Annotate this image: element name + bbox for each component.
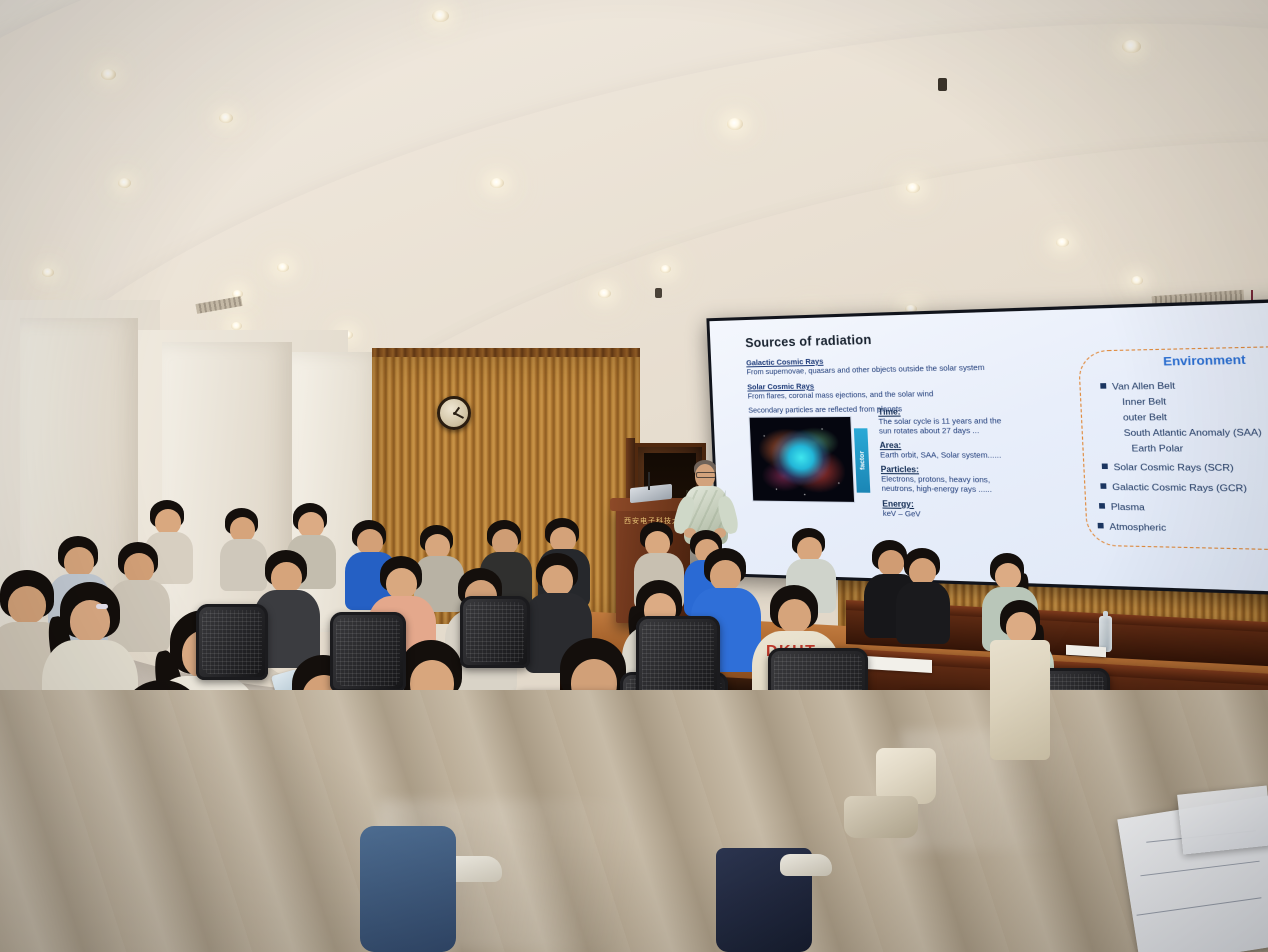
ceiling-downlight: [231, 322, 242, 330]
shoe: [780, 854, 832, 876]
slide-body-scr: From flares, coronal mass ejections, and…: [747, 389, 933, 401]
ceiling-downlight: [906, 183, 920, 193]
ceiling-downlight: [727, 118, 743, 130]
square-bullet-icon: [1099, 503, 1105, 509]
factor-body-area: Earth orbit, SAA, Solar system......: [880, 451, 1002, 461]
podium-mic: [648, 472, 650, 490]
head: [64, 547, 94, 577]
wood-trim: [372, 348, 640, 357]
head: [878, 550, 904, 576]
bag-under-desk: [844, 796, 918, 838]
head: [386, 568, 417, 599]
ceiling-downlight: [1056, 238, 1069, 247]
projection-screen-wrap: Sources of radiation Galactic Cosmic Ray…: [706, 296, 1268, 598]
factor-body-particles-2: neutrons, high-energy rays ......: [881, 485, 992, 496]
factor-body-energy: keV – GeV: [883, 510, 921, 520]
env-item-scr: Solar Cosmic Rays (SCR): [1102, 461, 1234, 473]
factor-head-time: Time:: [878, 407, 901, 417]
torso: [896, 582, 950, 644]
presenter-glasses-icon: [696, 472, 716, 478]
slide-title: Sources of radiation: [745, 333, 872, 351]
chair[interactable]: [196, 604, 272, 686]
env-item-inner-belt: Inner Belt: [1122, 396, 1166, 408]
ceiling-downlight: [490, 178, 504, 188]
lecture-hall-photo: Sources of radiation Galactic Cosmic Ray…: [0, 0, 1268, 952]
jacket-on-chair: [990, 640, 1050, 760]
ceiling-downlight: [118, 178, 131, 188]
ceiling-downlight: [660, 265, 671, 273]
env-item-gcr: Galactic Cosmic Rays (GCR): [1100, 481, 1247, 494]
ceiling-downlight: [1122, 40, 1141, 53]
ceiling-downlight: [277, 263, 289, 272]
hair-clip-icon: [96, 604, 108, 609]
factor-tab: factor: [854, 428, 870, 492]
crab-nebula-image: [749, 416, 856, 503]
head: [542, 565, 573, 596]
head: [778, 599, 811, 633]
wall-clock: [437, 396, 471, 430]
factor-head-area: Area:: [879, 441, 901, 450]
factor-head-particles: Particles:: [881, 465, 920, 475]
head: [710, 560, 741, 591]
head: [995, 563, 1021, 589]
factor-tab-label: factor: [858, 451, 866, 470]
chair[interactable]: [330, 612, 410, 698]
ceiling-downlight: [432, 10, 449, 22]
factor-head-energy: Energy:: [882, 499, 914, 509]
torso: [220, 539, 267, 591]
factor-body-time-2: sun rotates about 27 days ...: [879, 427, 980, 437]
ceiling-downlight: [42, 268, 54, 277]
ceiling-downlight: [101, 69, 116, 80]
head: [8, 586, 46, 624]
env-item-van-allen: Van Allen Belt: [1100, 380, 1175, 392]
chair[interactable]: [460, 596, 534, 674]
projection-screen[interactable]: Sources of radiation Galactic Cosmic Ray…: [706, 296, 1268, 598]
square-bullet-icon: [1100, 383, 1106, 389]
env-item-outer-belt: outer Belt: [1123, 411, 1167, 422]
head: [1006, 612, 1036, 643]
square-bullet-icon: [1100, 483, 1106, 489]
head: [124, 553, 154, 583]
jeans: [360, 826, 456, 952]
ceiling-downlight: [219, 113, 233, 123]
floor-poster-2[interactable]: [1177, 785, 1268, 854]
square-bullet-icon: [1102, 464, 1108, 470]
env-item-earth-polar: Earth Polar: [1131, 443, 1183, 454]
head: [271, 562, 302, 593]
environment-title: Environment: [1163, 354, 1246, 369]
env-item-atmospheric: Atmospheric: [1097, 521, 1166, 533]
ceiling-downlight: [1131, 276, 1143, 285]
head: [909, 558, 936, 585]
sprinkler-head: [938, 78, 947, 91]
env-item-saa: South Atlantic Anomaly (SAA): [1123, 426, 1261, 438]
sprinkler-head: [655, 288, 662, 298]
env-item-plasma: Plasma: [1099, 501, 1145, 513]
ceiling-downlight: [598, 289, 611, 298]
square-bullet-icon: [1098, 523, 1104, 529]
